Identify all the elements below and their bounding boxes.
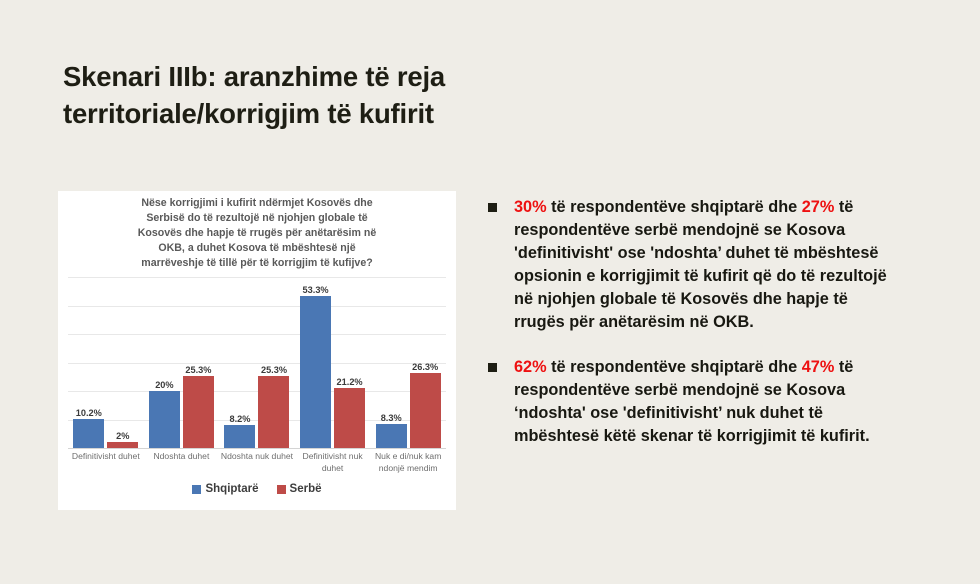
bar-wrapper: 20%	[149, 277, 180, 448]
bullet-text-mid: të respondentëve shqiptarë dhe	[547, 358, 802, 376]
bar-wrapper: 25.3%	[183, 277, 214, 448]
legend-label: Serbë	[290, 483, 322, 495]
bullet-highlight-secondary: 47%	[802, 358, 835, 376]
x-axis-label: Ndoshta nuk duhet	[219, 451, 295, 474]
bar-value-label: 25.3%	[261, 365, 287, 375]
legend-label: Shqiptarë	[205, 483, 258, 495]
chart-title-line-5: marrëveshje të tillë për të korrigjim të…	[80, 256, 434, 271]
bar-wrapper: 2%	[107, 277, 138, 448]
page-title: Skenari IIIb: aranzhime të reja territor…	[63, 59, 623, 132]
bar-group: 8.2%25.3%	[219, 277, 295, 448]
bar-wrapper: 26.3%	[410, 277, 441, 448]
bar-value-label: 8.2%	[230, 414, 251, 424]
legend-swatch-icon	[192, 485, 201, 494]
bar-group: 53.3%21.2%	[295, 277, 371, 448]
bar-value-label: 8.3%	[381, 413, 402, 423]
bar-value-label: 53.3%	[303, 285, 329, 295]
x-axis-label: Nuk e di/nuk kam ndonjë mendim	[370, 451, 446, 474]
bullet-highlight-primary: 62%	[514, 358, 547, 376]
bullet-text-rest: të respondentëve serbë mendojnë se Kosov…	[514, 198, 887, 331]
page-title-line-1: Skenari IIIb: aranzhime të reja	[63, 59, 623, 96]
chart-plot-area: 10.2%2%20%25.3%8.2%25.3%53.3%21.2%8.3%26…	[68, 277, 446, 448]
bullet-square-icon	[488, 363, 497, 372]
bar-wrapper: 53.3%	[300, 277, 331, 448]
page-title-line-2: territoriale/korrigjim të kufirit	[63, 96, 623, 133]
bar[interactable]	[149, 391, 180, 448]
bar-value-label: 2%	[116, 431, 129, 441]
bar-value-label: 26.3%	[412, 362, 438, 372]
bar[interactable]	[183, 376, 214, 448]
x-axis-label: Ndoshta duhet	[144, 451, 220, 474]
chart-legend: ShqiptarëSerbë	[58, 483, 456, 495]
bar-group: 20%25.3%	[144, 277, 220, 448]
bar[interactable]	[258, 376, 289, 448]
chart-x-axis: Definitivisht duhetNdoshta duhetNdoshta …	[68, 451, 446, 474]
bar-group: 10.2%2%	[68, 277, 144, 448]
bar[interactable]	[376, 424, 407, 448]
bar-wrapper: 8.2%	[224, 277, 255, 448]
bar[interactable]	[73, 419, 104, 448]
bar[interactable]	[107, 442, 138, 448]
bullet-text: 30% të respondentëve shqiptarë dhe 27% t…	[514, 196, 898, 334]
chart-title-line-3: Kosovës dhe hapje të rrugës për anëtarës…	[80, 226, 434, 241]
bullet-item: 62% të respondentëve shqiptarë dhe 47% t…	[488, 356, 898, 448]
bar-value-label: 25.3%	[185, 365, 211, 375]
legend-item[interactable]: Shqiptarë	[192, 483, 258, 495]
x-axis-label: Definitivisht nuk duhet	[295, 451, 371, 474]
bullet-text: 62% të respondentëve shqiptarë dhe 47% t…	[514, 356, 898, 448]
bullet-item: 30% të respondentëve shqiptarë dhe 27% t…	[488, 196, 898, 334]
legend-swatch-icon	[277, 485, 286, 494]
legend-item[interactable]: Serbë	[277, 483, 322, 495]
bar[interactable]	[300, 296, 331, 448]
bar-wrapper: 25.3%	[258, 277, 289, 448]
bullet-list: 30% të respondentëve shqiptarë dhe 27% t…	[488, 196, 898, 470]
bar-value-label: 21.2%	[337, 377, 363, 387]
bullet-highlight-secondary: 27%	[802, 198, 835, 216]
bar-group: 8.3%26.3%	[370, 277, 446, 448]
bullet-text-mid: të respondentëve shqiptarë dhe	[547, 198, 802, 216]
bullet-highlight-primary: 30%	[514, 198, 547, 216]
gridline	[68, 448, 446, 449]
bullet-square-icon	[488, 203, 497, 212]
bar-wrapper: 8.3%	[376, 277, 407, 448]
bar[interactable]	[224, 425, 255, 448]
bar[interactable]	[334, 388, 365, 448]
bar[interactable]	[410, 373, 441, 448]
bar-value-label: 10.2%	[76, 408, 102, 418]
chart-title-line-4: OKB, a duhet Kosova të mbështesë një	[80, 241, 434, 256]
bar-value-label: 20%	[155, 380, 173, 390]
bar-wrapper: 10.2%	[73, 277, 104, 448]
chart-title-line-2: Serbisë do të rezultojë në njohjen globa…	[80, 211, 434, 226]
chart-bars: 10.2%2%20%25.3%8.2%25.3%53.3%21.2%8.3%26…	[68, 277, 446, 448]
chart-title: Nëse korrigjimi i kufirit ndërmjet Kosov…	[80, 196, 434, 271]
bar-wrapper: 21.2%	[334, 277, 365, 448]
chart-title-line-1: Nëse korrigjimi i kufirit ndërmjet Kosov…	[80, 196, 434, 211]
x-axis-label: Definitivisht duhet	[68, 451, 144, 474]
chart-card: Nëse korrigjimi i kufirit ndërmjet Kosov…	[58, 191, 456, 510]
